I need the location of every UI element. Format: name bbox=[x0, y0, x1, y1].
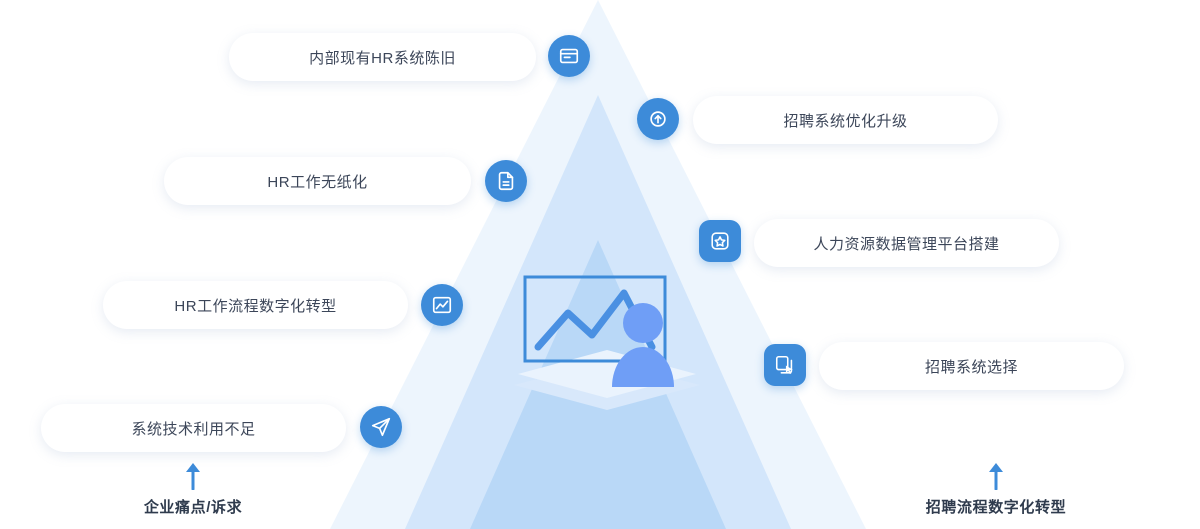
arrow-up-icon-left bbox=[184, 462, 202, 490]
pill-left-2-label: HR工作无纸化 bbox=[267, 171, 367, 192]
diagram-canvas: 内部现有HR系统陈旧 HR工作无纸化 HR工作流程数字化转型 系统技术利用不足 bbox=[0, 0, 1200, 529]
pill-left-4[interactable]: 系统技术利用不足 bbox=[41, 404, 346, 452]
window-icon[interactable] bbox=[548, 35, 590, 77]
document-icon[interactable] bbox=[485, 160, 527, 202]
upload-circle-icon[interactable] bbox=[637, 98, 679, 140]
right-column-heading-label: 招聘流程数字化转型 bbox=[926, 496, 1066, 517]
send-icon[interactable] bbox=[360, 406, 402, 448]
pill-right-2-label: 人力资源数据管理平台搭建 bbox=[813, 233, 999, 254]
chart-image-icon[interactable] bbox=[421, 284, 463, 326]
arrow-up-icon-right bbox=[987, 462, 1005, 490]
pill-left-4-label: 系统技术利用不足 bbox=[131, 418, 255, 439]
copy-cursor-icon[interactable] bbox=[764, 344, 806, 386]
pill-right-1-label: 招聘系统优化升级 bbox=[783, 110, 907, 131]
left-column-heading: 企业痛点/诉求 bbox=[83, 462, 303, 517]
pill-right-3[interactable]: 招聘系统选择 bbox=[819, 342, 1124, 390]
star-badge-icon[interactable] bbox=[699, 220, 741, 262]
pill-right-3-label: 招聘系统选择 bbox=[925, 356, 1018, 377]
pill-right-2[interactable]: 人力资源数据管理平台搭建 bbox=[754, 219, 1059, 267]
pill-left-3-label: HR工作流程数字化转型 bbox=[174, 295, 336, 316]
right-column-heading: 招聘流程数字化转型 bbox=[886, 462, 1106, 517]
left-column-heading-label: 企业痛点/诉求 bbox=[144, 496, 242, 517]
pill-left-3[interactable]: HR工作流程数字化转型 bbox=[103, 281, 408, 329]
pill-left-1[interactable]: 内部现有HR系统陈旧 bbox=[229, 33, 536, 81]
pill-left-1-label: 内部现有HR系统陈旧 bbox=[309, 47, 456, 68]
illustration-person-head bbox=[623, 303, 663, 343]
pill-right-1[interactable]: 招聘系统优化升级 bbox=[693, 96, 998, 144]
pill-left-2[interactable]: HR工作无纸化 bbox=[164, 157, 471, 205]
central-illustration bbox=[500, 235, 715, 425]
